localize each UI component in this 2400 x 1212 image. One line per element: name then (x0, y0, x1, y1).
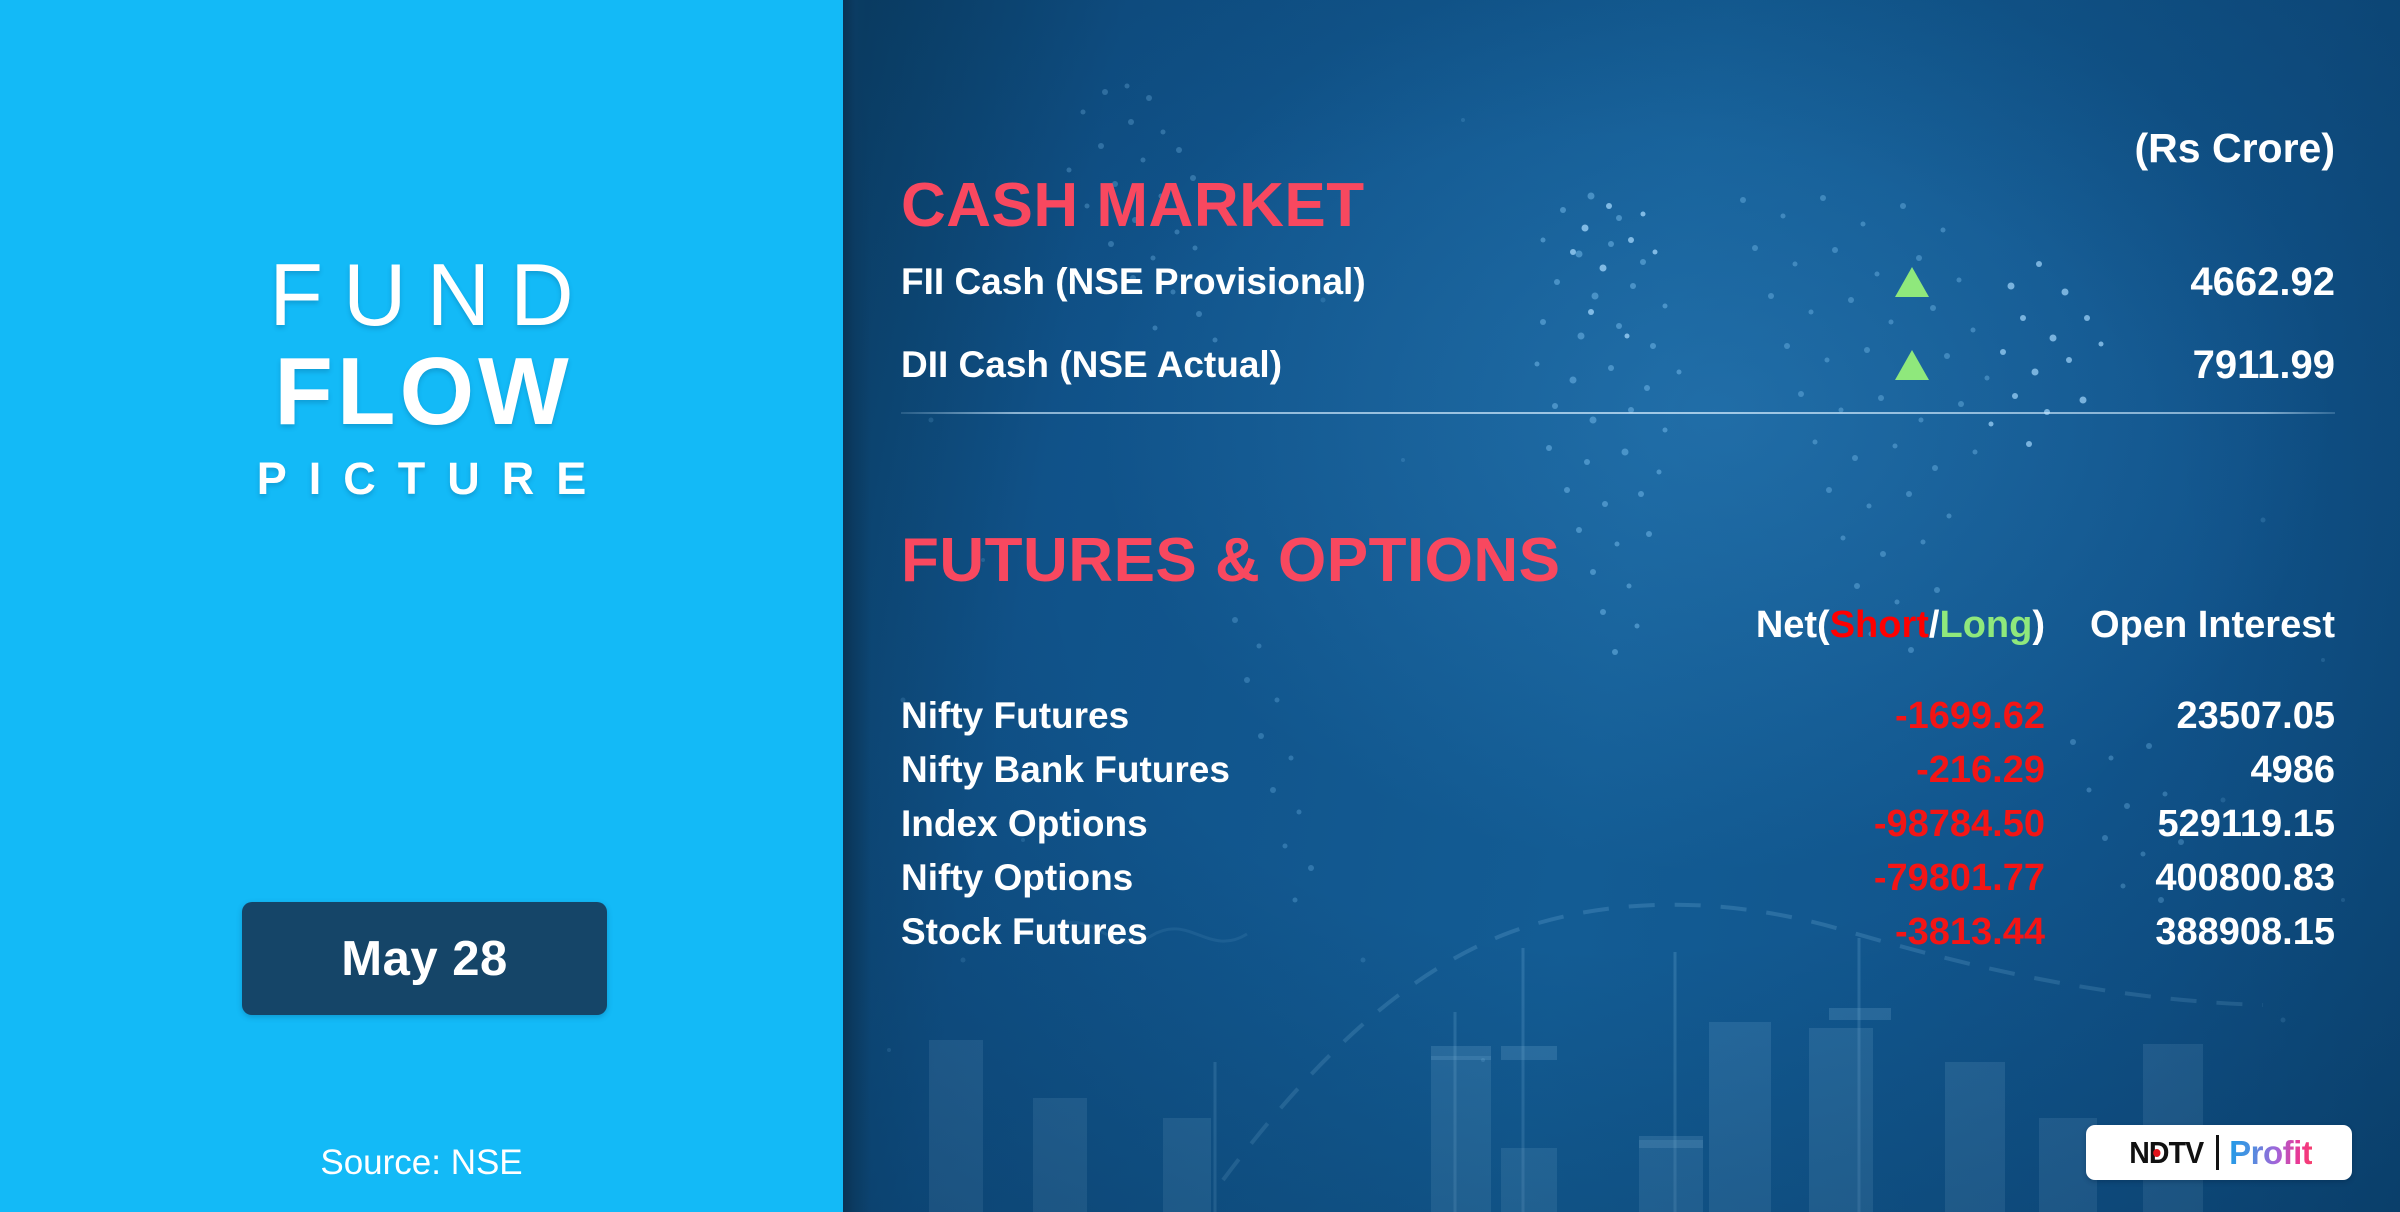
fno-row-net: -3813.44 (1715, 911, 2045, 954)
cash-market-title: CASH MARKET (901, 170, 1365, 241)
cash-row-label: DII Cash (NSE Actual) (901, 344, 1895, 386)
panel-content: (Rs Crore) CASH MARKET FII Cash (NSE Pro… (843, 0, 2400, 1212)
fno-row-net: -79801.77 (1715, 857, 2045, 900)
cash-row-dii: DII Cash (NSE Actual) 7911.99 (901, 338, 2335, 392)
fno-row-label: Stock Futures (901, 911, 1715, 953)
table-row: Nifty Bank Futures -216.29 4986 (901, 744, 2335, 796)
fno-row-open-interest: 4986 (2045, 749, 2335, 792)
fno-row-open-interest: 400800.83 (2045, 857, 2335, 900)
fno-row-label: Nifty Futures (901, 695, 1715, 737)
direction-indicator (1895, 267, 2045, 297)
net-suffix: ) (2032, 604, 2045, 646)
fno-row-net: -98784.50 (1715, 803, 2045, 846)
table-row: Stock Futures -3813.44 388908.15 (901, 906, 2335, 958)
profit-wordmark: Profit (2229, 1134, 2312, 1172)
futures-options-title: FUTURES & OPTIONS (901, 525, 1561, 596)
net-separator: / (1929, 604, 1940, 646)
left-branding-panel: FUND FLOW PICTURE May 28 Source: NSE (0, 0, 843, 1212)
logo-line-fund: FUND (0, 250, 843, 340)
logo-divider-bar (2216, 1135, 2219, 1170)
net-long-label: Long (1939, 604, 2032, 646)
cash-row-value: 4662.92 (2045, 260, 2335, 305)
futures-options-column-headers: Net(Short/Long) Open Interest (901, 600, 2335, 650)
fno-row-net: -216.29 (1715, 749, 2045, 792)
net-column-header: Net(Short/Long) (1715, 604, 2045, 647)
table-row: Nifty Options -79801.77 400800.83 (901, 852, 2335, 904)
cash-row-label: FII Cash (NSE Provisional) (901, 261, 1895, 303)
ndtv-red-dot-icon (2153, 1149, 2160, 1157)
date-badge: May 28 (242, 902, 607, 1015)
fund-flow-picture-graphic: FUND FLOW PICTURE May 28 Source: NSE (0, 0, 2400, 1212)
data-panel: (Rs Crore) CASH MARKET FII Cash (NSE Pro… (843, 0, 2400, 1212)
open-interest-column-header: Open Interest (2045, 604, 2335, 647)
table-row: Index Options -98784.50 529119.15 (901, 798, 2335, 850)
cash-row-value: 7911.99 (2045, 343, 2335, 388)
net-short-label: Short (1830, 604, 1929, 646)
fno-row-open-interest: 529119.15 (2045, 803, 2335, 846)
date-badge-label: May 28 (341, 931, 507, 987)
source-attribution: Source: NSE (0, 1143, 843, 1183)
ndtv-text: NDTV (2129, 1135, 2203, 1170)
triangle-up-icon (1895, 350, 1929, 380)
fno-row-net: -1699.62 (1715, 695, 2045, 738)
ndtv-profit-logo: NDTV Profit (2086, 1125, 2352, 1180)
logo-line-flow: FLOW (0, 342, 843, 443)
table-row: Nifty Futures -1699.62 23507.05 (901, 690, 2335, 742)
logo-line-picture: PICTURE (0, 451, 843, 507)
direction-indicator (1895, 350, 2045, 380)
fno-row-label: Nifty Bank Futures (901, 749, 1715, 791)
fno-row-label: Index Options (901, 803, 1715, 845)
triangle-up-icon (1895, 267, 1929, 297)
fno-row-open-interest: 23507.05 (2045, 695, 2335, 738)
ndtv-wordmark: NDTV (2129, 1135, 2203, 1171)
currency-unit-label: (Rs Crore) (2135, 125, 2335, 172)
fund-flow-picture-logo: FUND FLOW PICTURE (0, 250, 843, 507)
fno-row-label: Nifty Options (901, 857, 1715, 899)
cash-row-fii: FII Cash (NSE Provisional) 4662.92 (901, 255, 2335, 309)
net-prefix: Net( (1756, 604, 1830, 646)
section-divider (901, 412, 2335, 414)
fno-row-open-interest: 388908.15 (2045, 911, 2335, 954)
